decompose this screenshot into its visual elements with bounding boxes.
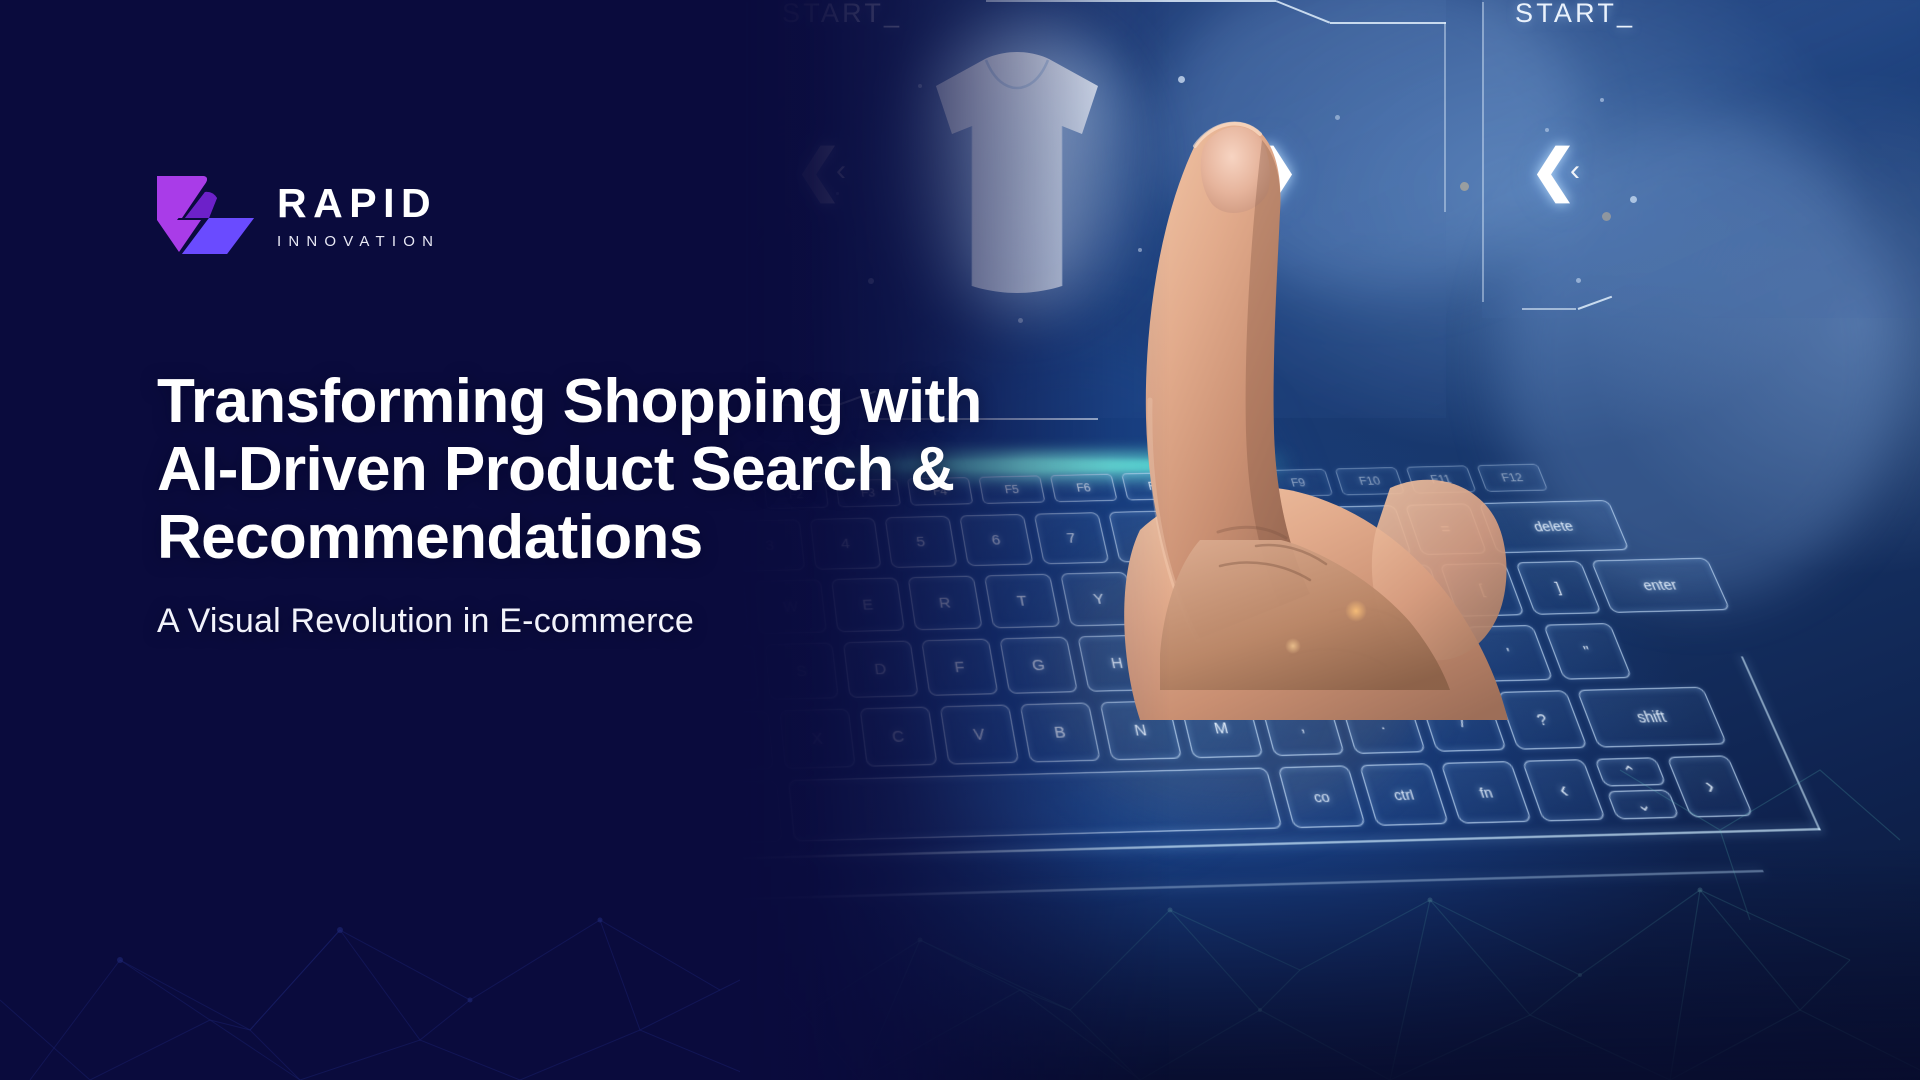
nav-prev-small-icon[interactable]: ‹	[1570, 156, 1580, 186]
hero-content: RAPID INNOVATION Transforming Shopping w…	[157, 0, 1107, 1080]
panel-edge	[1578, 296, 1613, 310]
key-p[interactable]: P	[1364, 564, 1448, 618]
key-f7[interactable]: F7	[1121, 472, 1189, 500]
key-fn-right[interactable]: fn	[1440, 761, 1532, 824]
page-subtitle: A Visual Revolution in E-commerce	[157, 600, 1057, 643]
key-l[interactable]: L	[1311, 629, 1396, 686]
key-bracket-left[interactable]: [	[1440, 563, 1525, 617]
key-u[interactable]: U	[1136, 570, 1215, 624]
keyboard-frame-line	[1741, 656, 1821, 830]
key-f9[interactable]: F9	[1264, 469, 1334, 497]
logo-brand-name: RAPID	[277, 183, 440, 224]
key-f12[interactable]: F12	[1476, 464, 1548, 492]
key-8[interactable]: 8	[1108, 510, 1185, 562]
key-comma[interactable]: ,	[1259, 696, 1345, 756]
key-i[interactable]: I	[1212, 568, 1293, 622]
logo-mark-icon	[157, 174, 254, 256]
nav-next-small-icon[interactable]: ›	[1229, 158, 1239, 188]
hero-banner: START_	[0, 0, 1920, 1080]
key-m[interactable]: M	[1179, 698, 1263, 758]
key-semicolon[interactable]: ;	[1388, 627, 1474, 684]
key-k[interactable]: K	[1233, 631, 1316, 688]
arrow-left-icon[interactable]: ‹	[1522, 759, 1606, 821]
nav-next-icon[interactable]: ❯	[1252, 142, 1299, 198]
key-question[interactable]: ?	[1497, 690, 1587, 750]
panel-edge	[1522, 308, 1576, 310]
key-delete[interactable]: delete	[1479, 500, 1630, 553]
key-n[interactable]: N	[1100, 700, 1183, 760]
panel-start-label: START_	[1515, 0, 1635, 29]
key-j[interactable]: J	[1155, 633, 1237, 690]
key-period[interactable]: .	[1339, 694, 1426, 754]
panel-edge	[1482, 2, 1484, 302]
arrow-down-icon[interactable]: ⌄	[1606, 789, 1679, 819]
key-minus[interactable]: -	[1331, 505, 1412, 557]
headline-line-1: Transforming Shopping with	[157, 368, 1087, 436]
arrow-updown-group[interactable]: ⌃ ⌄	[1594, 757, 1680, 819]
headline-line-2: AI-Driven Product Search &	[157, 436, 1087, 504]
key-shift-right[interactable]: shift	[1577, 687, 1728, 748]
key-f10[interactable]: F10	[1335, 467, 1405, 495]
key-slash[interactable]: /	[1418, 692, 1507, 752]
key-f8[interactable]: F8	[1192, 470, 1261, 498]
panel-edge	[1276, 0, 1331, 24]
brand-logo[interactable]: RAPID INNOVATION	[157, 174, 440, 256]
key-quote[interactable]: "	[1543, 623, 1632, 680]
logo-tagline: INNOVATION	[277, 234, 440, 249]
key-9[interactable]: 9	[1182, 509, 1260, 561]
arrow-up-icon[interactable]: ⌃	[1594, 757, 1666, 786]
logo-wordmark: RAPID INNOVATION	[277, 181, 440, 249]
page-title: Transforming Shopping with AI-Driven Pro…	[157, 368, 1087, 573]
key-ctrl-right[interactable]: ctrl	[1359, 763, 1449, 826]
key-0[interactable]: 0	[1257, 507, 1337, 559]
panel-edge	[1444, 22, 1446, 212]
key-o[interactable]: O	[1288, 566, 1370, 620]
panel-edge	[1330, 22, 1446, 24]
key-apostrophe[interactable]: '	[1466, 625, 1554, 682]
key-enter[interactable]: enter	[1591, 558, 1731, 613]
arrow-right-icon[interactable]: ›	[1666, 755, 1753, 817]
particle-warm	[1460, 182, 1469, 191]
headline-line-3: Recommendations	[157, 504, 1087, 572]
key-command-right[interactable]: co	[1278, 765, 1366, 828]
key-bracket-right[interactable]: ]	[1515, 561, 1601, 615]
key-f11[interactable]: F11	[1406, 465, 1477, 493]
key-equals[interactable]: =	[1405, 503, 1487, 555]
